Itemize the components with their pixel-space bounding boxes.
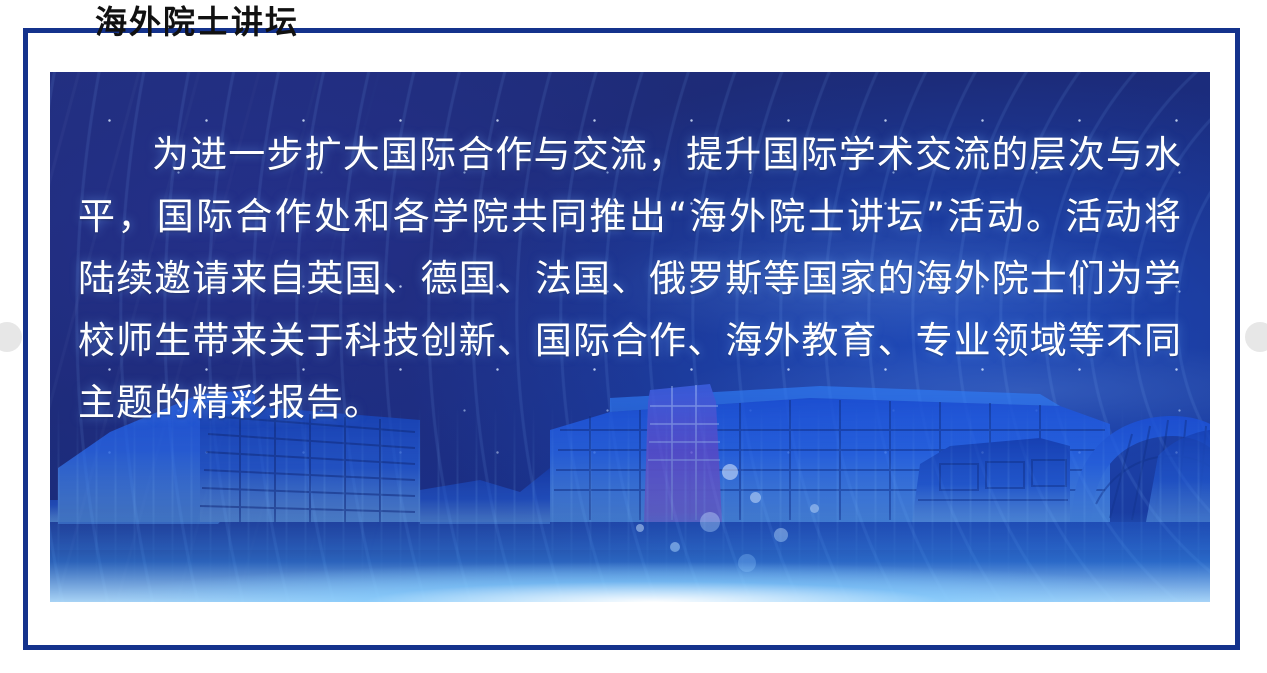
carousel-prev-icon[interactable]	[0, 322, 22, 352]
bokeh-particle	[750, 492, 761, 503]
page-title: 海外院士讲坛	[95, 2, 299, 42]
glowing-horizon	[50, 512, 1210, 602]
banner-body-text: 为进一步扩大国际合作与交流，提升国际学术交流的层次与水平，国际合作处和各学院共同…	[50, 124, 1210, 434]
banner-paragraph: 为进一步扩大国际合作与交流，提升国际学术交流的层次与水平，国际合作处和各学院共同…	[78, 124, 1182, 434]
overseas-academician-forum-banner[interactable]: 为进一步扩大国际合作与交流，提升国际学术交流的层次与水平，国际合作处和各学院共同…	[50, 72, 1210, 602]
carousel-next-icon[interactable]	[1245, 322, 1267, 352]
bokeh-particle	[722, 464, 738, 480]
